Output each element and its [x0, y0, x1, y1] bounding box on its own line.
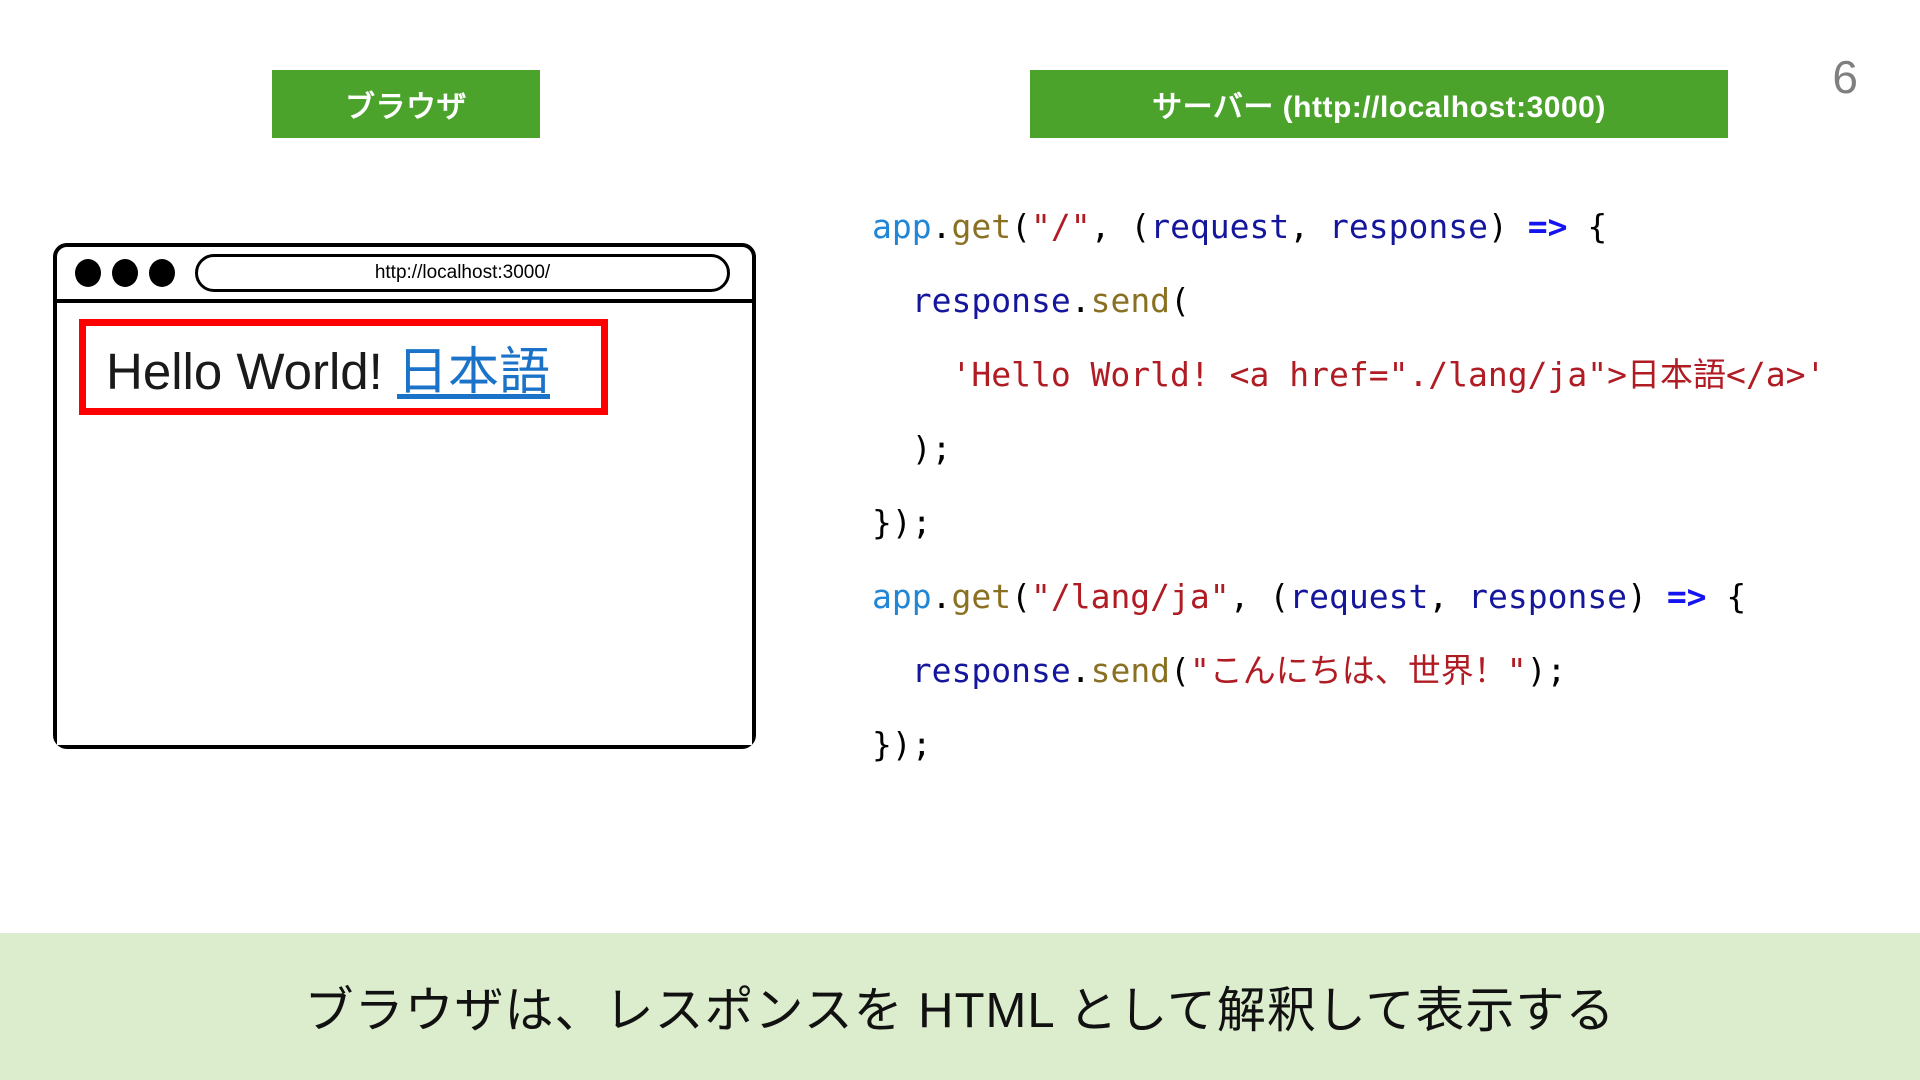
code-line: );: [872, 412, 1825, 486]
code-token-punc: .: [932, 207, 952, 246]
section-header-browser-label: ブラウザ: [345, 82, 467, 126]
code-token-punc: {: [1567, 207, 1607, 246]
code-token-param: request: [1289, 577, 1428, 616]
code-token-punc: [1508, 207, 1528, 246]
code-token-obj: app: [872, 577, 932, 616]
caption-text: ブラウザは、レスポンスを HTML として解釈して表示する: [305, 971, 1616, 1042]
code-line: });: [872, 708, 1825, 782]
window-control-dot-icon[interactable]: [75, 259, 101, 287]
rendered-link-japanese[interactable]: 日本語: [397, 343, 550, 400]
code-token-fn: get: [951, 207, 1011, 246]
server-code-block: app.get("/", (request, response) => { re…: [872, 190, 1825, 782]
code-token-punc: (: [1130, 207, 1150, 246]
highlight-box: Hello World! 日本語: [79, 319, 608, 415]
window-control-dot-icon[interactable]: [112, 259, 138, 287]
code-token-punc: ,: [1091, 207, 1131, 246]
code-token-punc: ): [1627, 577, 1647, 616]
section-header-server: サーバー (http://localhost:3000): [1030, 70, 1728, 138]
code-line: app.get("/", (request, response) => {: [872, 190, 1825, 264]
code-token-punc: );: [1527, 651, 1567, 690]
code-token-fn: get: [951, 577, 1011, 616]
code-token-param: response: [1329, 207, 1488, 246]
code-token-arrow: =>: [1528, 207, 1568, 246]
rendered-page-content: Hello World! 日本語: [106, 330, 550, 404]
code-token-punc: });: [872, 503, 932, 542]
code-token-str: 'Hello World! <a href="./lang/ja">日本語</a…: [951, 355, 1825, 394]
code-token-param: response: [912, 651, 1071, 690]
code-token-param: response: [912, 281, 1071, 320]
code-token-punc: (: [1011, 207, 1031, 246]
code-line: app.get("/lang/ja", (request, response) …: [872, 560, 1825, 634]
code-token-punc: ): [1488, 207, 1508, 246]
browser-chrome: http://localhost:3000/: [57, 247, 752, 303]
code-token-str: "/": [1031, 207, 1091, 246]
code-token-arrow: =>: [1667, 577, 1707, 616]
code-token-punc: .: [1071, 281, 1091, 320]
code-token-fn: send: [1091, 281, 1170, 320]
code-token-obj: app: [872, 207, 932, 246]
address-bar[interactable]: http://localhost:3000/: [195, 254, 730, 292]
code-token-punc: (: [1170, 651, 1190, 690]
code-token-punc: ,: [1428, 577, 1468, 616]
code-line: });: [872, 486, 1825, 560]
code-indent: [872, 651, 912, 690]
browser-viewport: Hello World! 日本語: [57, 303, 752, 745]
section-header-browser: ブラウザ: [272, 70, 540, 138]
code-token-fn: send: [1091, 651, 1170, 690]
code-line: response.send(: [872, 264, 1825, 338]
caption-band: ブラウザは、レスポンスを HTML として解釈して表示する: [0, 933, 1920, 1080]
code-token-str: "/lang/ja": [1031, 577, 1230, 616]
code-token-punc: (: [1011, 577, 1031, 616]
code-token-punc: ,: [1230, 577, 1270, 616]
code-token-param: response: [1468, 577, 1627, 616]
code-token-punc: {: [1707, 577, 1747, 616]
code-indent: [872, 281, 912, 320]
code-indent: [872, 429, 912, 468]
code-indent: [872, 355, 951, 394]
browser-window-mockup: http://localhost:3000/ Hello World! 日本語: [53, 243, 756, 749]
rendered-text: Hello World!: [106, 343, 397, 400]
window-control-dot-icon[interactable]: [149, 259, 175, 287]
code-token-str: "こんにちは、世界！": [1190, 651, 1527, 690]
address-bar-url: http://localhost:3000/: [375, 262, 550, 284]
code-token-punc: (: [1269, 577, 1289, 616]
code-token-param: request: [1150, 207, 1289, 246]
code-token-punc: (: [1170, 281, 1190, 320]
code-token-punc: .: [932, 577, 952, 616]
code-token-punc: );: [912, 429, 952, 468]
code-token-punc: ,: [1289, 207, 1329, 246]
code-token-punc: [1647, 577, 1667, 616]
code-token-punc: });: [872, 725, 932, 764]
page-number: 6: [1832, 54, 1858, 100]
code-line: response.send("こんにちは、世界！");: [872, 634, 1825, 708]
code-line: 'Hello World! <a href="./lang/ja">日本語</a…: [872, 338, 1825, 412]
code-token-punc: .: [1071, 651, 1091, 690]
section-header-server-label: サーバー (http://localhost:3000): [1152, 82, 1606, 126]
window-controls: [75, 259, 175, 287]
